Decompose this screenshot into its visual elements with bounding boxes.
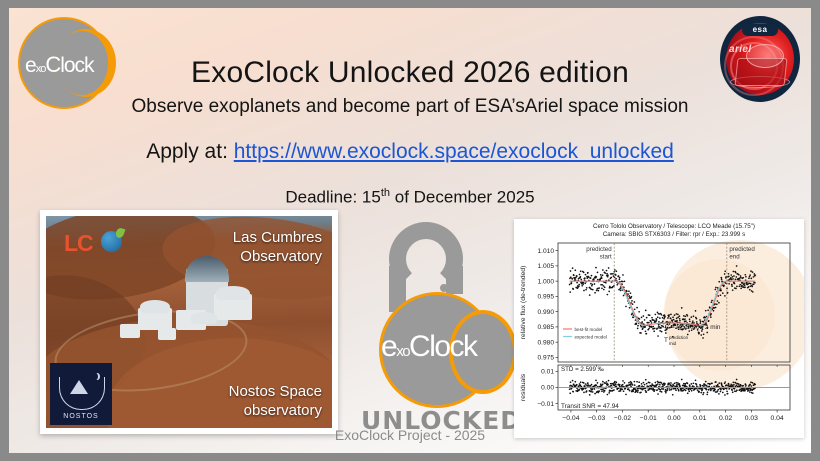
y-axis-residual: −0.010.000.01 — [537, 369, 558, 408]
residual-point — [569, 392, 571, 394]
residual-point — [733, 384, 735, 386]
data-point — [632, 317, 634, 319]
residual-point — [709, 384, 711, 386]
data-point — [661, 331, 663, 333]
data-point — [736, 265, 738, 267]
data-point — [693, 315, 695, 317]
data-point — [699, 319, 701, 321]
data-point — [586, 287, 588, 289]
residual-point — [714, 389, 716, 391]
observatory-photo: LC Las Cumbres Observatory Nostos Space … — [46, 216, 332, 428]
pad-xo: xo — [396, 343, 409, 360]
data-point — [607, 294, 609, 296]
data-point — [731, 279, 733, 281]
residual-point — [634, 384, 636, 386]
residual-point — [569, 388, 571, 390]
residual-point — [724, 381, 726, 383]
x-tick-label: −0.02 — [614, 415, 631, 422]
residual-point — [752, 382, 754, 384]
data-point — [749, 289, 751, 291]
data-point — [676, 317, 678, 319]
residual-point — [624, 382, 626, 384]
data-point — [590, 288, 592, 290]
data-point — [574, 278, 576, 280]
residual-point — [748, 390, 750, 392]
data-point — [583, 272, 585, 274]
observatory-dome — [191, 312, 217, 324]
data-point — [749, 276, 751, 278]
data-point — [678, 315, 680, 317]
data-point — [658, 321, 660, 323]
residual-point — [632, 390, 634, 392]
data-point — [690, 316, 692, 318]
data-point — [683, 315, 685, 317]
data-point — [607, 276, 609, 278]
residual-point — [684, 383, 686, 385]
data-point — [645, 310, 647, 312]
data-point — [670, 314, 672, 316]
data-point — [605, 282, 607, 284]
data-point — [626, 290, 628, 292]
data-point — [627, 293, 629, 295]
residual-point — [598, 390, 600, 392]
data-point — [596, 290, 598, 292]
y-axis-label-residual: residuals — [520, 373, 527, 401]
residual-point — [702, 389, 704, 391]
residual-point — [607, 384, 609, 386]
residual-point — [726, 390, 728, 392]
data-point — [723, 285, 725, 287]
data-point — [656, 319, 658, 321]
data-point — [604, 272, 606, 274]
residual-point — [690, 383, 692, 385]
residual-point — [732, 382, 734, 384]
data-point — [573, 274, 575, 276]
data-point — [730, 274, 732, 276]
data-point — [657, 311, 659, 313]
x-tick-label: 0.00 — [667, 415, 680, 422]
observatory-building — [120, 324, 140, 338]
data-point — [646, 333, 648, 335]
data-point — [727, 292, 729, 294]
residual-point — [608, 392, 610, 394]
residual-point — [705, 381, 707, 383]
data-point — [649, 314, 651, 316]
data-point — [604, 286, 606, 288]
data-point — [731, 285, 733, 287]
residual-point — [604, 390, 606, 392]
data-point — [677, 314, 679, 316]
residual-point — [667, 389, 669, 391]
data-point — [628, 295, 630, 297]
photo-label-las-cumbres: Las Cumbres Observatory — [233, 228, 322, 266]
data-point — [639, 318, 641, 320]
residual-point — [646, 391, 648, 393]
data-point — [715, 307, 717, 309]
data-point — [728, 283, 730, 285]
data-point — [654, 328, 656, 330]
residual-point — [629, 390, 631, 392]
data-point — [641, 321, 643, 323]
data-point — [612, 273, 614, 275]
data-point — [670, 317, 672, 319]
residual-point — [698, 391, 700, 393]
y-axis-main: 0.9750.9800.9850.9900.9951.0001.0051.010 — [537, 248, 558, 362]
label-line1: Las Cumbres — [233, 228, 322, 247]
data-point — [724, 295, 726, 297]
data-point — [591, 275, 593, 277]
data-point — [585, 289, 587, 291]
data-point — [606, 273, 608, 275]
data-point — [598, 287, 600, 289]
data-point — [578, 285, 580, 287]
residual-point — [623, 390, 625, 392]
residual-point — [604, 382, 606, 384]
residual-point — [591, 384, 593, 386]
data-point — [642, 328, 644, 330]
data-point — [724, 273, 726, 275]
residual-point — [622, 389, 624, 391]
residual-point — [618, 390, 620, 392]
residual-point — [595, 380, 597, 382]
data-point — [570, 276, 572, 278]
residual-point — [594, 388, 596, 390]
residual-point — [630, 385, 632, 387]
residual-point — [585, 383, 587, 385]
residual-point — [707, 391, 709, 393]
data-point — [619, 277, 621, 279]
data-point — [732, 271, 734, 273]
data-point — [732, 276, 734, 278]
data-point — [685, 320, 687, 322]
residual-point — [659, 384, 661, 386]
lco-wordmark: LC — [64, 230, 93, 257]
data-point — [720, 290, 722, 292]
y-tick-label: 0.975 — [537, 355, 554, 362]
residual-point — [607, 394, 609, 396]
data-point — [704, 317, 706, 319]
residual-point — [677, 382, 679, 384]
residual-point — [570, 381, 572, 383]
data-point — [597, 279, 599, 281]
residual-point — [602, 384, 604, 386]
page-title: ExoClock Unlocked 2026 edition — [9, 56, 811, 90]
residual-point — [595, 384, 597, 386]
data-point — [740, 275, 742, 277]
data-point — [674, 314, 676, 316]
padlock-wordmark: exoClock — [381, 330, 511, 369]
residual-point — [594, 393, 596, 395]
residual-point — [717, 389, 719, 391]
data-point — [645, 330, 647, 332]
residual-point — [634, 381, 636, 383]
observatory-photo-card: LC Las Cumbres Observatory Nostos Space … — [40, 210, 338, 434]
data-point — [655, 314, 657, 316]
residual-point — [671, 388, 673, 390]
data-point — [679, 320, 681, 322]
residual-point — [702, 394, 704, 396]
data-point — [570, 270, 572, 272]
data-point — [671, 320, 673, 322]
residual-point — [646, 383, 648, 385]
data-point — [620, 290, 622, 292]
residual-point — [688, 390, 690, 392]
data-point — [717, 287, 719, 289]
data-point — [748, 282, 750, 284]
residual-point — [706, 385, 708, 387]
data-point — [689, 318, 691, 320]
legend-label: best-fit model — [575, 327, 603, 332]
ariel-wordmark: ariel — [729, 44, 752, 55]
data-point — [584, 277, 586, 279]
data-point — [739, 284, 741, 286]
data-point — [659, 317, 661, 319]
data-point — [696, 321, 698, 323]
deadline-ordinal: th — [381, 187, 390, 199]
residual-point — [727, 393, 729, 395]
data-point — [630, 292, 632, 294]
residual-point — [662, 388, 664, 390]
residual-point — [670, 382, 672, 384]
residual-point — [615, 383, 617, 385]
residual-point — [735, 384, 737, 386]
data-point — [742, 277, 744, 279]
residual-point — [750, 385, 752, 387]
data-point — [752, 291, 754, 293]
x-tick-label: 0.03 — [745, 415, 758, 422]
data-point — [624, 280, 626, 282]
data-point — [607, 274, 609, 276]
data-point — [641, 316, 643, 318]
residual-point — [574, 381, 576, 383]
data-point — [595, 267, 597, 269]
residual-point — [589, 394, 591, 396]
residual-point — [640, 391, 642, 393]
data-point — [616, 284, 618, 286]
data-point — [661, 314, 663, 316]
data-point — [753, 283, 755, 285]
data-point — [644, 326, 646, 328]
residual-point — [657, 393, 659, 395]
apply-line: Apply at: https://www.exoclock.space/exo… — [9, 140, 811, 164]
y-tick-label: 0.990 — [537, 309, 554, 316]
data-point — [735, 272, 737, 274]
data-point — [716, 303, 718, 305]
data-point — [750, 285, 752, 287]
data-point — [735, 288, 737, 290]
residual-point — [744, 390, 746, 392]
data-point — [676, 320, 678, 322]
data-point — [684, 315, 686, 317]
data-point — [749, 274, 751, 276]
residual-point — [641, 385, 643, 387]
residual-point — [706, 394, 708, 396]
x-tick-label: 0.01 — [693, 415, 706, 422]
data-point — [700, 334, 702, 336]
residual-point — [592, 388, 594, 390]
data-point — [580, 279, 582, 281]
data-point — [585, 274, 587, 276]
residual-point — [742, 385, 744, 387]
data-point — [569, 291, 571, 293]
data-point — [590, 277, 592, 279]
residual-point — [583, 392, 585, 394]
residual-point — [687, 392, 689, 394]
data-point — [634, 301, 636, 303]
residual-point — [722, 392, 724, 394]
data-point — [681, 307, 683, 309]
data-point — [741, 285, 743, 287]
watermark-crescent — [663, 259, 775, 371]
data-point — [650, 320, 652, 322]
residual-point — [736, 389, 738, 391]
data-point — [593, 278, 595, 280]
data-point — [732, 278, 734, 280]
residual-point — [638, 381, 640, 383]
residual-point — [754, 384, 756, 386]
data-point — [714, 289, 716, 291]
photo-label-nostos: Nostos Space observatory — [229, 382, 322, 420]
residual-point — [637, 390, 639, 392]
residual-point — [661, 382, 663, 384]
residual-point — [745, 384, 747, 386]
data-point — [732, 289, 734, 291]
x-tick-label: 0.02 — [719, 415, 732, 422]
label-line2: observatory — [229, 401, 322, 420]
poster-root: exoClock esa ariel ExoClock Unlocked 202… — [0, 0, 820, 461]
residual-point — [613, 389, 615, 391]
residual-point — [750, 381, 752, 383]
data-point — [587, 272, 589, 274]
residual-point — [683, 383, 685, 385]
data-point — [750, 270, 752, 272]
residual-point — [645, 379, 647, 381]
data-point — [696, 318, 698, 320]
data-point — [601, 277, 603, 279]
data-point — [634, 308, 636, 310]
residual-point — [734, 388, 736, 390]
residual-point — [660, 389, 662, 391]
data-point — [752, 271, 754, 273]
residual-point — [572, 380, 574, 382]
y-tick-label: 1.010 — [537, 248, 554, 255]
data-point — [748, 277, 750, 279]
data-point — [576, 275, 578, 277]
data-point — [576, 282, 578, 284]
data-point — [580, 270, 582, 272]
residual-point — [586, 390, 588, 392]
x-tick-label: −0.01 — [640, 415, 657, 422]
residual-point — [752, 392, 754, 394]
tmid-subscript: mid — [669, 341, 677, 346]
data-point — [664, 315, 666, 317]
y-tick-label: 0.995 — [537, 294, 554, 301]
data-point — [588, 276, 590, 278]
data-point — [580, 276, 582, 278]
residual-point — [738, 383, 740, 385]
residual-point — [672, 394, 674, 396]
data-point — [640, 326, 642, 328]
data-point — [750, 283, 752, 285]
label-line2: Observatory — [233, 247, 322, 266]
data-point — [632, 303, 634, 305]
residual-point — [643, 382, 645, 384]
residual-point — [583, 382, 585, 384]
data-point — [648, 328, 650, 330]
data-point — [735, 276, 737, 278]
data-point — [738, 285, 740, 287]
residual-point — [601, 385, 603, 387]
data-point — [738, 274, 740, 276]
predicted-end-label: predicted — [729, 246, 755, 253]
data-point — [589, 294, 591, 296]
residual-point — [700, 392, 702, 394]
residual-point — [644, 384, 646, 386]
residual-point — [728, 384, 730, 386]
data-point — [706, 332, 708, 334]
data-point — [606, 270, 608, 272]
residual-point — [678, 390, 680, 392]
residual-point — [726, 388, 728, 390]
shackle-leg-right — [446, 266, 463, 294]
residual-point — [711, 382, 713, 384]
data-point — [616, 270, 618, 272]
data-point — [748, 286, 750, 288]
transit-lightcurve-chart: Cerro Tololo Observatory / Telescope: LC… — [514, 219, 804, 438]
data-point — [731, 284, 733, 286]
data-point — [733, 275, 735, 277]
data-point — [754, 282, 756, 284]
residual-point — [691, 390, 693, 392]
snr-annotation: Transit SNR = 47.94 — [561, 403, 619, 410]
data-point — [595, 276, 597, 278]
data-point — [579, 274, 581, 276]
residual-point — [620, 390, 622, 392]
residual-point — [749, 391, 751, 393]
residual-point — [668, 382, 670, 384]
deadline-text: Deadline: 15th of December 2025 — [9, 187, 811, 208]
data-point — [707, 309, 709, 311]
y-tick-label: 0.985 — [537, 324, 554, 331]
residual-point — [736, 379, 738, 381]
data-point — [673, 319, 675, 321]
data-point — [574, 269, 576, 271]
residual-point — [685, 390, 687, 392]
data-point — [651, 322, 653, 324]
y-tick-label: −0.01 — [537, 401, 554, 408]
data-point — [666, 321, 668, 323]
residual-point — [717, 384, 719, 386]
data-point — [668, 316, 670, 318]
data-point — [608, 267, 610, 269]
residual-point — [665, 392, 667, 394]
residual-point — [656, 389, 658, 391]
residual-point — [717, 390, 719, 392]
data-point — [717, 300, 719, 302]
data-point — [721, 278, 723, 280]
legend-label: expected model — [575, 335, 607, 340]
residual-point — [578, 389, 580, 391]
residual-point — [720, 389, 722, 391]
data-point — [695, 310, 697, 312]
chart-title-line: Camera: SBIG STX6303 / Filter: rpr / Exp… — [603, 231, 745, 238]
data-point — [648, 322, 650, 324]
x-tick-label: −0.03 — [588, 415, 605, 422]
data-point — [720, 294, 722, 296]
data-point — [603, 285, 605, 287]
apply-link[interactable]: https://www.exoclock.space/exoclock_unlo… — [234, 140, 674, 163]
residual-point — [625, 394, 627, 396]
